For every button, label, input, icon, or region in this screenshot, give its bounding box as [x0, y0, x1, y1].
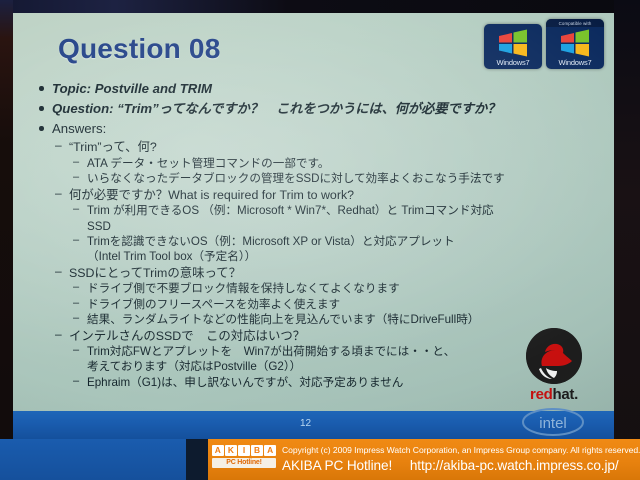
windows7-compatible-label: Windows7: [546, 58, 604, 67]
bullet-non-trim-os-cont: （Intel Trim Tool box（予定名））: [87, 249, 610, 264]
slide-title: Question 08: [58, 33, 220, 65]
akiba-logo: A K I B A PC Hotline!: [212, 445, 276, 468]
compatible-with-banner: Compatible with: [546, 19, 604, 27]
bullet-block-management: いらなくなったデータブロックの管理をSSDに対して効率よくおこなう手法です: [35, 171, 610, 186]
footer-copyright: Copyright (c) 2009 Impress Watch Corpora…: [282, 445, 640, 455]
windows-logo-group: Windows7 Compatible with Windows7: [484, 19, 604, 69]
footer-site-url[interactable]: http://akiba-pc.watch.impress.co.jp/: [410, 458, 619, 473]
akiba-letter-a1: A: [212, 445, 224, 456]
akiba-letter-a2: A: [264, 445, 276, 456]
page-number: 12: [300, 418, 311, 429]
bullet-free-space: ドライブ側のフリースペースを効率よく使えます: [35, 297, 610, 312]
windows-flag-icon: [559, 29, 591, 57]
svg-text:intel: intel: [539, 415, 567, 432]
bullet-trim-fw-applet-text: Trim対応FWとアプレットを Win7が出荷開始する頃までには・・と、: [87, 345, 455, 358]
bullet-trim-meaning: SSDにとってTrimの意味って？: [35, 265, 610, 282]
bullet-ata-command: ATA データ・セット管理コマンドの一部です。: [35, 156, 610, 171]
bullet-non-trim-os: Trimを認識できないOS（例：Microsoft XP or Vista）と対…: [35, 234, 610, 265]
footer-site: AKIBA PC Hotline! http://akiba-pc.watch.…: [282, 458, 619, 473]
redhat-logo: redhat.: [514, 328, 594, 403]
akiba-logo-letters: A K I B A: [212, 445, 276, 456]
bullet-question: Question: “Trim”ってなんですか？ これをつかうには、何が必要です…: [35, 99, 610, 118]
room-surround-right: [614, 0, 640, 480]
redhat-shadowman-icon: [526, 328, 582, 384]
bullet-topic: Topic: Postville and TRIM: [35, 79, 610, 98]
redhat-wordmark-red: red: [530, 386, 552, 403]
windows7-compatible-logo: Compatible with Windows7: [546, 19, 604, 69]
akiba-letter-b: B: [251, 445, 263, 456]
projected-slide-photo: Question 08 Windows7 Compatible with: [0, 0, 640, 480]
room-surround-left: [0, 0, 13, 480]
intel-logo: intel: [516, 406, 590, 438]
bullet-no-block-info: ドライブ側で不要ブロック情報を保持しなくてよくなります: [35, 281, 610, 296]
akiba-letter-k: K: [225, 445, 237, 456]
akiba-letter-i: I: [238, 445, 250, 456]
bullet-trim-what: “Trim”って、何?: [35, 139, 610, 156]
bullet-random-write: 結果、ランダムライトなどの性能向上を見込んでいます（特にDriveFull時）: [35, 312, 610, 327]
windows7-logo-label: Windows7: [484, 58, 542, 67]
footer-dark-corner: [186, 439, 208, 480]
slide-footer-band: 12 intel: [13, 411, 614, 439]
redhat-shadowman-glyph: [526, 328, 582, 384]
bullet-answers: Answers:: [35, 119, 610, 138]
redhat-wordmark: redhat.: [514, 386, 594, 403]
windows7-logo: Windows7: [484, 24, 542, 69]
footer-blue-block: [0, 439, 200, 480]
windows-flag-icon: [497, 29, 529, 57]
bullet-trim-capable-os: Trim が利用できるOS （例：Microsoft * Win7*、Redha…: [35, 203, 610, 234]
redhat-wordmark-dark: hat.: [552, 386, 577, 403]
bullet-what-required: 何が必要ですか？What is required for Trim to wor…: [35, 187, 610, 204]
footer-site-name: AKIBA PC Hotline!: [282, 458, 392, 473]
akiba-logo-sub: PC Hotline!: [212, 458, 276, 468]
bullet-non-trim-os-text: Trimを認識できないOS（例：Microsoft XP or Vista）と対…: [87, 235, 455, 248]
bullet-trim-capable-os-cont: SSD: [87, 219, 610, 234]
bullet-trim-capable-os-text: Trim が利用できるOS （例：Microsoft * Win7*、Redha…: [87, 204, 494, 217]
room-surround-top: [0, 0, 640, 13]
presentation-slide: Question 08 Windows7 Compatible with: [13, 13, 614, 411]
akiba-footer-bar: A K I B A PC Hotline! Copyright (c) 2009…: [0, 439, 640, 480]
